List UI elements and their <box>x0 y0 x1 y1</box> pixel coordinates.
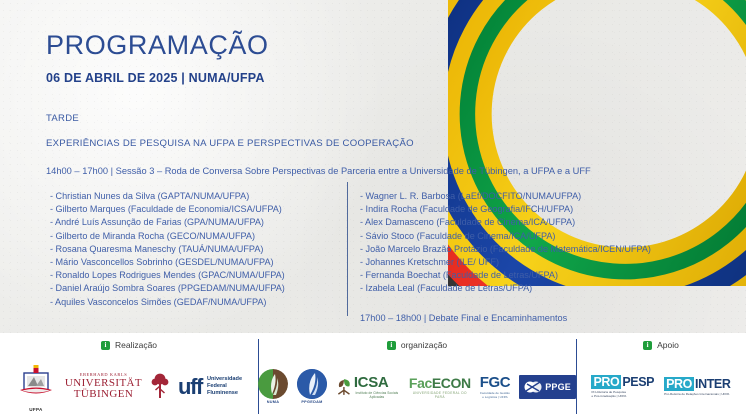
footer-section-apoio: i Apoio PRO PESP Pró-Reitoria de Pesquis… <box>576 333 746 420</box>
organizacao-header: i organização <box>258 333 576 350</box>
facecon-logo: Fac ECON UNIVERSIDADE FEDERAL DO PARÁ <box>409 375 471 399</box>
uff-line3: Fluminense <box>207 390 238 396</box>
page-subtitle: 06 DE ABRIL DE 2025 | NUMA/UFPA <box>46 71 269 85</box>
uff-line1: Universidade <box>207 376 242 382</box>
poster-canvas: PROGRAMAÇÃO 06 DE ABRIL DE 2025 | NUMA/U… <box>0 0 746 420</box>
poster-header: PROGRAMAÇÃO 06 DE ABRIL DE 2025 | NUMA/U… <box>46 32 269 85</box>
ufpa-caption: UFPA <box>16 407 56 412</box>
closing-line: 17h00 – 18h00 | Debate Final e Encaminha… <box>360 313 567 323</box>
participant-item: - Sávio Stoco (Faculdade de Cinema/ICA/U… <box>360 230 710 243</box>
icsa-wordmark: ICSA <box>354 374 400 391</box>
tubingen-kicker: EBERHARD KARLS <box>65 373 142 377</box>
info-icon: i <box>643 341 652 350</box>
numa-caption: NUMA <box>258 400 288 404</box>
participant-item: - Fernanda Boechat (Faculdade de Letras/… <box>360 269 710 282</box>
ppge-logo: PPGE <box>519 375 576 399</box>
participant-item: - Mário Vasconcellos Sobrinho (GESDEL/NU… <box>50 256 350 269</box>
fgc-wordmark: FGC <box>480 374 510 391</box>
ppgedam-logo: PPGEDAM <box>297 369 327 404</box>
participant-item: - Ronaldo Lopes Rodrigues Mendes (GPAC/N… <box>50 269 350 282</box>
ppge-mark-icon <box>524 379 542 395</box>
ppge-wordmark: PPGE <box>545 382 571 392</box>
participant-item: - Alex Damasceno (Faculdade de Cinema/IC… <box>360 216 710 229</box>
uff-line2: Federal <box>207 383 227 389</box>
apoio-label: Apoio <box>657 340 679 350</box>
info-icon: i <box>387 341 396 350</box>
facecon-part-b: ECON <box>432 375 471 391</box>
participant-item: - Gilberto Marques (Faculdade de Economi… <box>50 203 350 216</box>
apoio-header: i Apoio <box>576 333 746 350</box>
uff-tree-icon <box>151 372 169 402</box>
uff-logo: uff Universidade Federal Fluminense <box>178 374 242 400</box>
participant-item: - Johannes Kretschmer (ILE/ UFF) <box>360 256 710 269</box>
icsa-leaf-icon <box>336 375 352 399</box>
participant-item: - Rosana Quaresma Maneschy (TAUÁ/NUMA/UF… <box>50 243 350 256</box>
icsa-subtitle: Instituto de Ciências Sociais Aplicadas <box>354 391 400 399</box>
realizacao-label: Realização <box>115 340 157 350</box>
participant-item: - Christian Nunes da Silva (GAPTA/NUMA/U… <box>50 190 350 203</box>
footer-section-organizacao: i organização NUMA <box>258 333 576 420</box>
tubingen-line2: TÜBINGEN <box>65 389 142 400</box>
facecon-part-a: Fac <box>409 375 432 391</box>
participant-item: - Izabela Leal (Faculdade de Letras/UFPA… <box>360 282 710 295</box>
uff-wordmark: uff <box>178 374 202 400</box>
participant-item: - André Luís Assunção de Farias (GPA/NUM… <box>50 216 350 229</box>
organizacao-label: organização <box>401 340 447 350</box>
shift-label: TARDE <box>46 113 79 124</box>
participant-item: - Aquiles Vasconcelos Simões (GEDAF/NUMA… <box>50 296 350 309</box>
block-title: EXPERIÊNCIAS DE PESQUISA NA UFPA E PERSP… <box>46 138 414 149</box>
realizacao-logos: UFPA EBERHARD KARLS UNIVERSITÄT TÜBINGEN <box>0 357 258 416</box>
organizacao-logos: NUMA PPGEDAM <box>258 357 576 416</box>
session-line: 14h00 – 17h00 | Sessão 3 – Roda de Conve… <box>46 166 591 176</box>
participant-item: - Daniel Araújo Sombra Soares (PPGEDAM/N… <box>50 282 350 295</box>
prointer-part-b: INTER <box>694 377 731 391</box>
fgc-sub2: e Logística | UFPA <box>482 395 508 399</box>
ppgedam-caption: PPGEDAM <box>297 400 327 404</box>
participant-item: - Gilberto de Miranda Rocha (GECO/NUMA/U… <box>50 230 350 243</box>
apoio-logos: PRO PESP Pró-Reitoria de Pesquisa e Pós-… <box>576 357 746 416</box>
participant-item: - Indira Rocha (Faculdade de Geografia/I… <box>360 203 710 216</box>
facecon-subtitle: UNIVERSIDADE FEDERAL DO PARÁ <box>409 391 471 399</box>
numa-logo: NUMA <box>258 369 288 404</box>
tubingen-logo: EBERHARD KARLS UNIVERSITÄT TÜBINGEN <box>65 373 142 401</box>
ufpa-logo: UFPA <box>16 364 56 409</box>
propesp-logo: PRO PESP Pró-Reitoria de Pesquisa e Pós-… <box>591 375 654 398</box>
prointer-sub1: Pró-Reitoria de Relações Internacionais … <box>664 392 729 396</box>
fgc-logo: FGC Faculdade de Gestão e Logística | UF… <box>480 374 510 399</box>
participants-column-left: - Christian Nunes da Silva (GAPTA/NUMA/U… <box>50 190 350 309</box>
propesp-part-b: PESP <box>621 375 654 389</box>
info-icon: i <box>101 341 110 350</box>
propesp-sub2: e Pós-Graduação | UFPA <box>591 394 626 398</box>
realizacao-header: i Realização <box>0 333 258 350</box>
participant-item: - Wagner L. R. Barbosa (LaEf/DOCFITO/NUM… <box>360 190 710 203</box>
propesp-part-a: PRO <box>591 375 621 389</box>
icsa-logo: ICSA Instituto de Ciências Sociais Aplic… <box>336 374 400 399</box>
page-title: PROGRAMAÇÃO <box>46 32 269 59</box>
participant-item: - João Marcelo Brazão Protázio (Faculdad… <box>360 243 710 256</box>
participants-column-right: - Wagner L. R. Barbosa (LaEf/DOCFITO/NUM… <box>360 190 710 296</box>
footer-section-realizacao: i Realização <box>0 333 258 420</box>
prointer-part-a: PRO <box>664 377 694 391</box>
sponsor-footer: i Realização <box>0 333 746 420</box>
prointer-logo: PRO INTER Pró-Reitoria de Relações Inter… <box>664 377 730 396</box>
